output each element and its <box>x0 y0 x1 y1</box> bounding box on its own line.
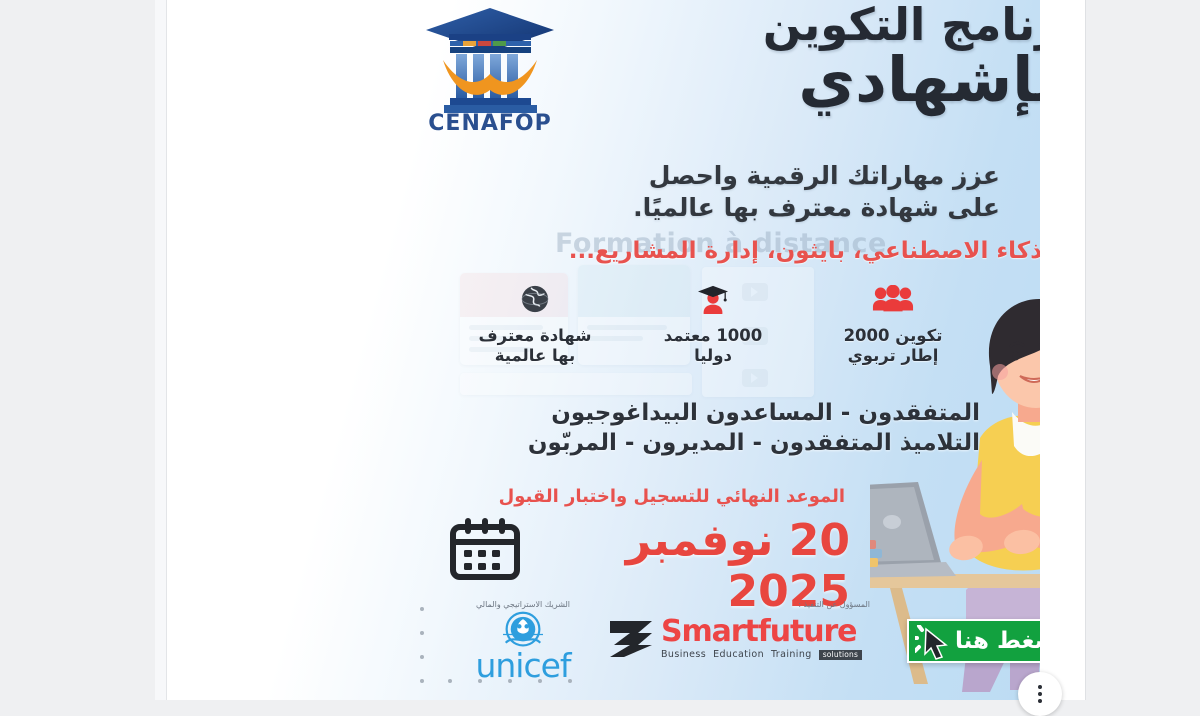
calendar-icon <box>448 518 522 580</box>
partner-unicef-name: unicef <box>475 650 570 681</box>
poster-subtitle-line-1: عزز مهاراتك الرقمية واحصل <box>580 160 1000 192</box>
poster-title-line-1: برنامج التكوين <box>610 2 1040 48</box>
svg-text:CENAFOP: CENAFOP <box>428 111 551 134</box>
poster-topics-line: الذكاء الاصطناعي، بايثون، إدارة المشاريع… <box>560 238 1040 264</box>
deadline-label: الموعد النهائي للتسجيل واختبار القبول <box>480 486 845 507</box>
poster-image[interactable]: CENAFOP الجمهورية التونسية <box>180 0 1040 700</box>
poster-title: برنامج التكوين الإشهادي <box>610 2 1040 111</box>
target-audience: المتفقدون - المساعدون البيداغوجيون التلا… <box>470 398 980 459</box>
page-root: CENAFOP الجمهورية التونسية <box>0 0 1200 700</box>
cta-button[interactable]: مهتمّ؟ إضغط هنا <box>907 619 1040 663</box>
feed-left-gutter <box>0 0 166 700</box>
unicef-emblem-icon <box>500 610 546 650</box>
poster-subtitle: عزز مهاراتك الرقمية واحصل على شهادة معتر… <box>580 160 1000 224</box>
feature-label: شهادة معترف بها عالمية <box>460 326 610 366</box>
feature-label: 1000 معتمد دوليا <box>638 326 788 366</box>
poster-subtitle-line-2: على شهادة معترف بها عالميًا. <box>580 192 1000 224</box>
partner-smartfuture-badge: solutions <box>819 650 862 660</box>
globe-icon <box>460 284 610 324</box>
partner-smartfuture-name: Smartfuture <box>661 617 862 647</box>
graduate-icon <box>638 284 788 324</box>
smartfuture-mark-icon <box>608 617 654 659</box>
feed-left-strip <box>155 0 166 700</box>
feature-item: 1000 معتمد دوليا <box>638 284 788 366</box>
cenafop-logo: CENAFOP <box>423 4 558 134</box>
kebab-menu-icon[interactable] <box>1018 672 1062 716</box>
cta-label: مهتمّ؟ إضغط هنا <box>955 628 1040 654</box>
partner-unicef: الشريك الاستراتيجي والمالي unicef <box>458 600 588 681</box>
partner-smartfuture-tagline: Business Education Training solutions <box>661 650 862 660</box>
feature-item: شهادة معترف بها عالمية <box>460 284 610 366</box>
feed-right-gutter <box>1086 0 1200 700</box>
partner-smartfuture-caption: المسؤول عن التنفيذ : <box>798 600 870 609</box>
partner-unicef-caption: الشريك الاستراتيجي والمالي <box>458 600 588 609</box>
audience-line-2: التلاميذ المتفقدون - المديرون - المربّون <box>470 428 980 458</box>
poster-title-line-2: الإشهادي <box>610 48 1040 111</box>
click-cursor-icon <box>915 625 953 661</box>
audience-line-1: المتفقدون - المساعدون البيداغوجيون <box>470 398 980 428</box>
